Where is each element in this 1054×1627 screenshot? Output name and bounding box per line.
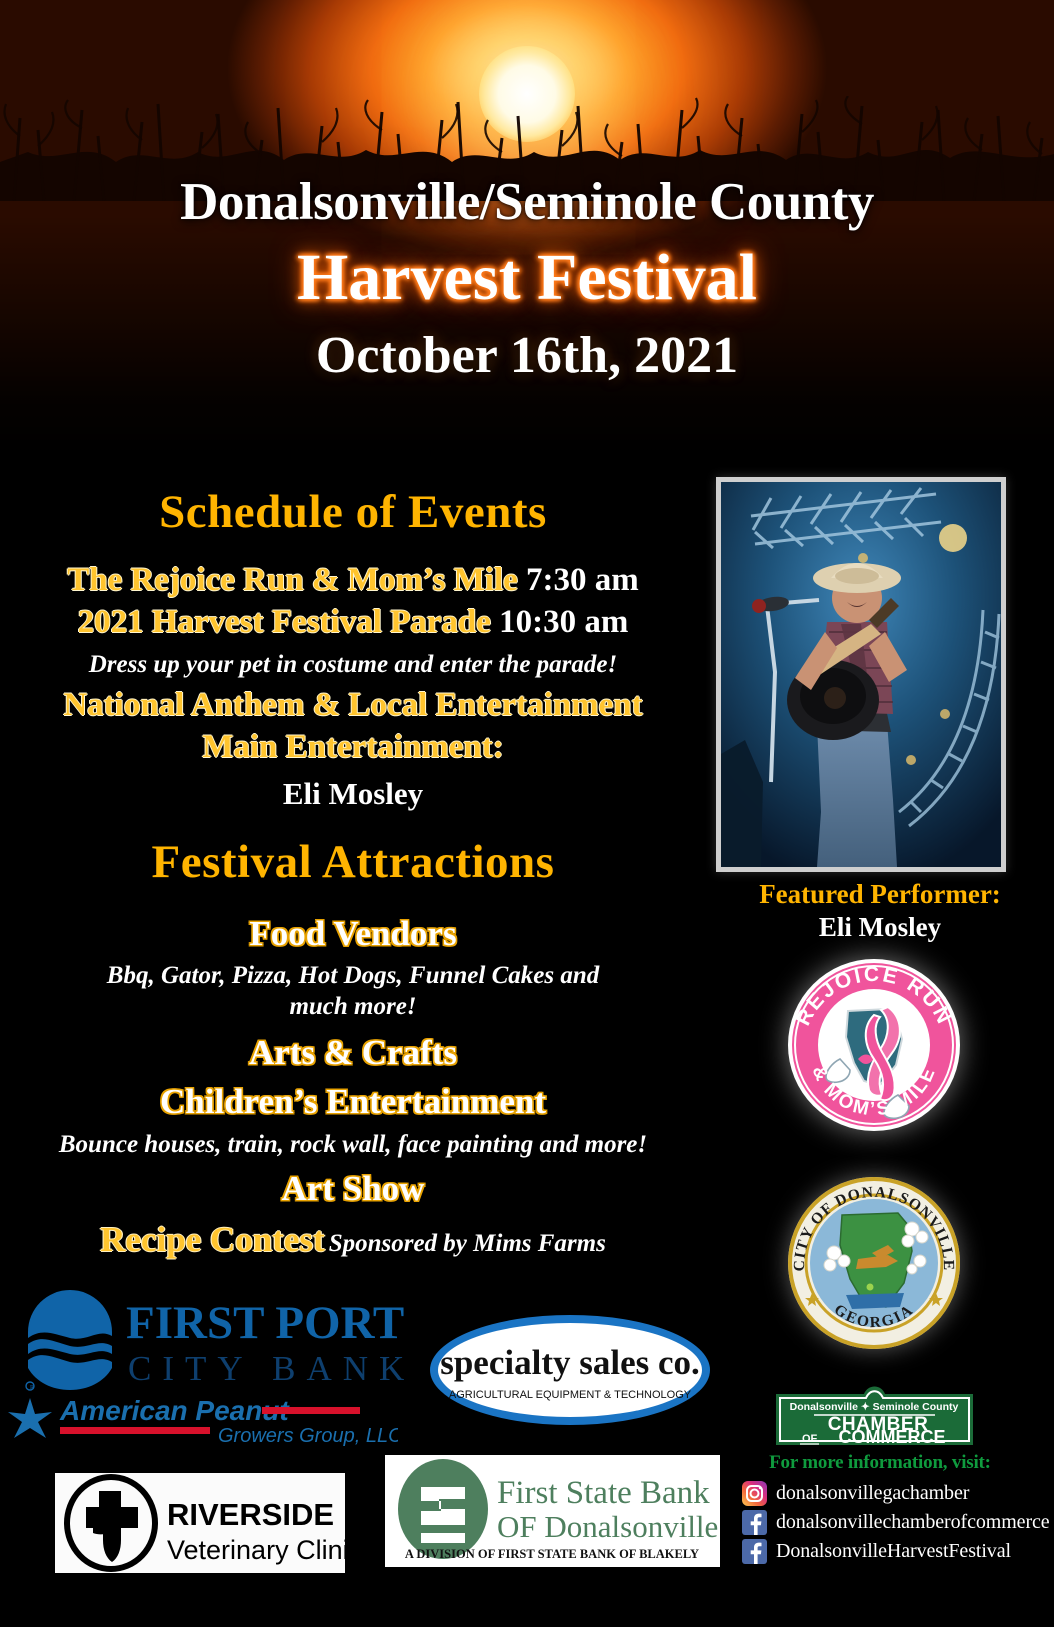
svg-text:AGRICULTURAL EQUIPMENT & TECHN: AGRICULTURAL EQUIPMENT & TECHNOLOGY <box>449 1389 692 1401</box>
schedule-item-time: 7:30 am <box>526 562 639 598</box>
food-vendors-note-line2: much more! <box>0 992 706 1023</box>
attraction-food-vendors: Food Vendors <box>0 913 706 956</box>
attraction-recipe-contest: Recipe Contest Sponsored by Mims Farms <box>0 1219 706 1261</box>
schedule-item-name: The Rejoice Run & Mom’s Mile <box>67 562 518 598</box>
city-seal-logo: CITY OF DONALSONVILLE GEORGIA <box>786 1175 962 1351</box>
sponsor-american-peanut-growers-group: American Peanut Growers Group, LLC <box>8 1390 398 1452</box>
svg-text:OF Donalsonville: OF Donalsonville <box>497 1509 718 1544</box>
parade-note: Dress up your pet in costume and enter t… <box>0 650 706 680</box>
performer-stage-image <box>721 482 1001 867</box>
svg-text:specialty sales co.: specialty sales co. <box>440 1343 700 1382</box>
facebook-festival-handle[interactable]: DonalsonvilleHarvestFestival <box>776 1540 1011 1563</box>
food-vendors-note-line1: Bbq, Gator, Pizza, Hot Dogs, Funnel Cake… <box>0 961 706 992</box>
childrens-entertainment-note: Bounce houses, train, rock wall, face pa… <box>0 1130 706 1161</box>
facebook-icon[interactable] <box>742 1510 767 1535</box>
sponsor-riverside-veterinary-clinic: RIVERSIDE Veterinary Clinic <box>55 1473 345 1573</box>
chamber-of-label: OF <box>802 1433 818 1445</box>
social-link-instagram[interactable]: donalsonvillegachamber <box>742 1481 1054 1506</box>
facebook-chamber-handle[interactable]: donalsonvillechamberofcommerce <box>776 1511 1050 1534</box>
instagram-icon[interactable] <box>742 1481 767 1506</box>
svg-text:First State Bank: First State Bank <box>497 1475 710 1511</box>
performer-photo <box>721 482 1001 867</box>
poster-body: Schedule of Events The Rejoice Run & Mom… <box>0 455 1054 1627</box>
svg-text:RIVERSIDE: RIVERSIDE <box>167 1497 334 1532</box>
national-anthem-line: National Anthem & Local Entertainment <box>0 686 706 724</box>
svg-text:CITY BANK: CITY BANK <box>128 1349 415 1388</box>
hero-banner: Donalsonville/Seminole County Harvest Fe… <box>0 0 1054 455</box>
rejoice-run-badge: REJOICE RUN & MOM’S MILE <box>784 955 964 1135</box>
social-link-facebook-festival[interactable]: DonalsonvilleHarvestFestival <box>742 1539 1054 1564</box>
social-links-list: donalsonvillegachamber donalsonvillecham… <box>742 1481 1054 1568</box>
svg-text:American Peanut: American Peanut <box>59 1395 290 1426</box>
social-link-facebook-chamber[interactable]: donalsonvillechamberofcommerce <box>742 1510 1054 1535</box>
city-of-donalsonville-seal: CITY OF DONALSONVILLE GEORGIA <box>786 1175 962 1351</box>
svg-text:Growers Group, LLC: Growers Group, LLC <box>218 1425 398 1447</box>
attraction-art-show: Art Show <box>0 1168 706 1211</box>
main-entertainment-label: Main Entertainment: <box>202 729 504 765</box>
american-peanut-growers-group-logo: American Peanut Growers Group, LLC <box>8 1390 398 1452</box>
svg-text:A DIVISION OF FIRST STATE BANK: A DIVISION OF FIRST STATE BANK OF BLAKEL… <box>405 1547 699 1561</box>
festival-name-title: Harvest Festival <box>0 240 1054 316</box>
svg-text:Veterinary Clinic: Veterinary Clinic <box>167 1535 345 1565</box>
svg-text:FIRST PORT: FIRST PORT <box>126 1297 404 1349</box>
sponsor-specialty-sales-co: specialty sales co. AGRICULTURAL EQUIPME… <box>428 1310 713 1430</box>
main-entertainment-name: Eli Mosley <box>0 776 706 813</box>
schedule-heading: Schedule of Events <box>0 485 706 539</box>
hero-title-block: Donalsonville/Seminole County Harvest Fe… <box>0 0 1054 385</box>
svg-text:R: R <box>30 1385 34 1391</box>
chamber-logo-graphic: Donalsonville ✦ Seminole County CHAMBER … <box>772 1368 977 1445</box>
facebook-icon[interactable] <box>742 1539 767 1564</box>
riverside-veterinary-clinic-logo: RIVERSIDE Veterinary Clinic <box>55 1473 345 1573</box>
featured-performer-name: Eli Mosley <box>706 912 1054 943</box>
featured-performer-label: Featured Performer: <box>706 879 1054 910</box>
more-info-label: For more information, visit: <box>706 1452 1054 1474</box>
attraction-childrens-entertainment: Children’s Entertainment <box>0 1081 706 1124</box>
instagram-handle[interactable]: donalsonvillegachamber <box>776 1482 969 1505</box>
sponsor-first-state-bank-of-donalsonville: First State Bank OF Donalsonville A DIVI… <box>385 1455 720 1567</box>
left-content-column: Schedule of Events The Rejoice Run & Mom… <box>0 455 706 1261</box>
chamber-subtitle: Donalsonville ✦ Seminole County <box>790 1401 959 1413</box>
specialty-sales-co-logo: specialty sales co. AGRICULTURAL EQUIPME… <box>428 1310 713 1430</box>
sponsor-first-port-city-bank: R FIRST PORT CITY BANK <box>18 1280 416 1392</box>
attraction-arts-crafts: Arts & Crafts <box>0 1032 706 1075</box>
recipe-contest-label: Recipe Contest <box>100 1220 325 1259</box>
schedule-item: 2021 Harvest Festival Parade 10:30 am <box>0 603 706 641</box>
performer-photo-frame <box>716 477 1006 872</box>
first-port-city-bank-logo: R FIRST PORT CITY BANK <box>18 1280 416 1392</box>
attractions-heading: Festival Attractions <box>0 835 706 889</box>
main-entertainment-line: Main Entertainment: <box>0 728 706 766</box>
festival-location-title: Donalsonville/Seminole County <box>0 172 1054 232</box>
rejoice-run-logo: REJOICE RUN & MOM’S MILE <box>784 955 964 1135</box>
chamber-of-commerce-logo: Donalsonville ✦ Seminole County CHAMBER … <box>772 1368 977 1445</box>
national-anthem-label: National Anthem & Local Entertainment <box>63 687 642 723</box>
schedule-item-time: 10:30 am <box>499 604 628 640</box>
festival-date: October 16th, 2021 <box>0 326 1054 385</box>
schedule-item: The Rejoice Run & Mom’s Mile 7:30 am <box>0 561 706 599</box>
chamber-line2: COMMERCE <box>839 1427 946 1445</box>
schedule-item-name: 2021 Harvest Festival Parade <box>78 604 491 640</box>
recipe-contest-sponsor: Sponsored by Mims Farms <box>329 1230 606 1257</box>
first-state-bank-of-donalsonville-logo: First State Bank OF Donalsonville A DIVI… <box>385 1455 720 1567</box>
